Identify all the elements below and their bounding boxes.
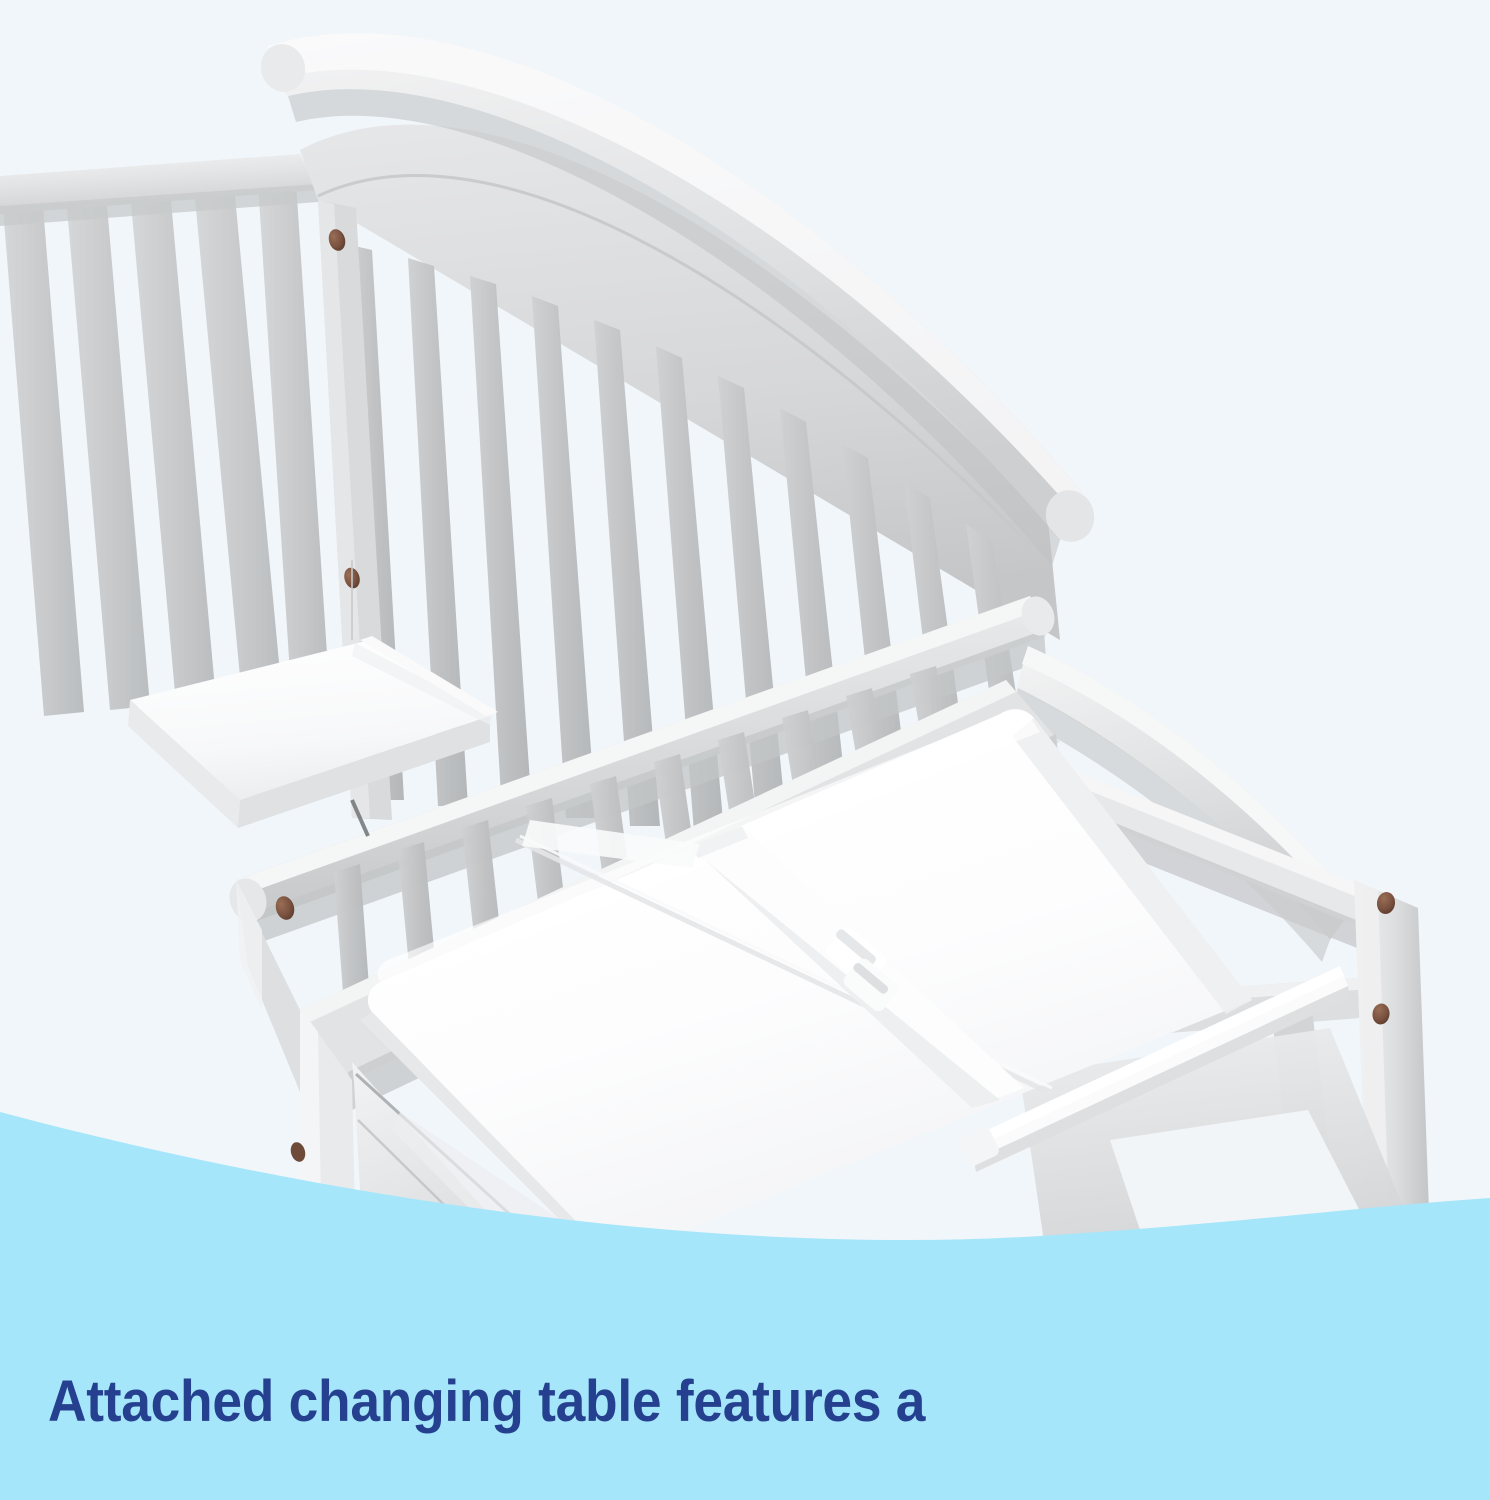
caption-line-1: Attached changing table features a <box>48 1364 1336 1440</box>
crib-illustration <box>0 0 1490 1260</box>
product-photo <box>0 0 1490 1260</box>
screenshot-root: Attached changing table features a water… <box>0 0 1490 1500</box>
caption-text: Attached changing table features a water… <box>48 1288 1336 1500</box>
